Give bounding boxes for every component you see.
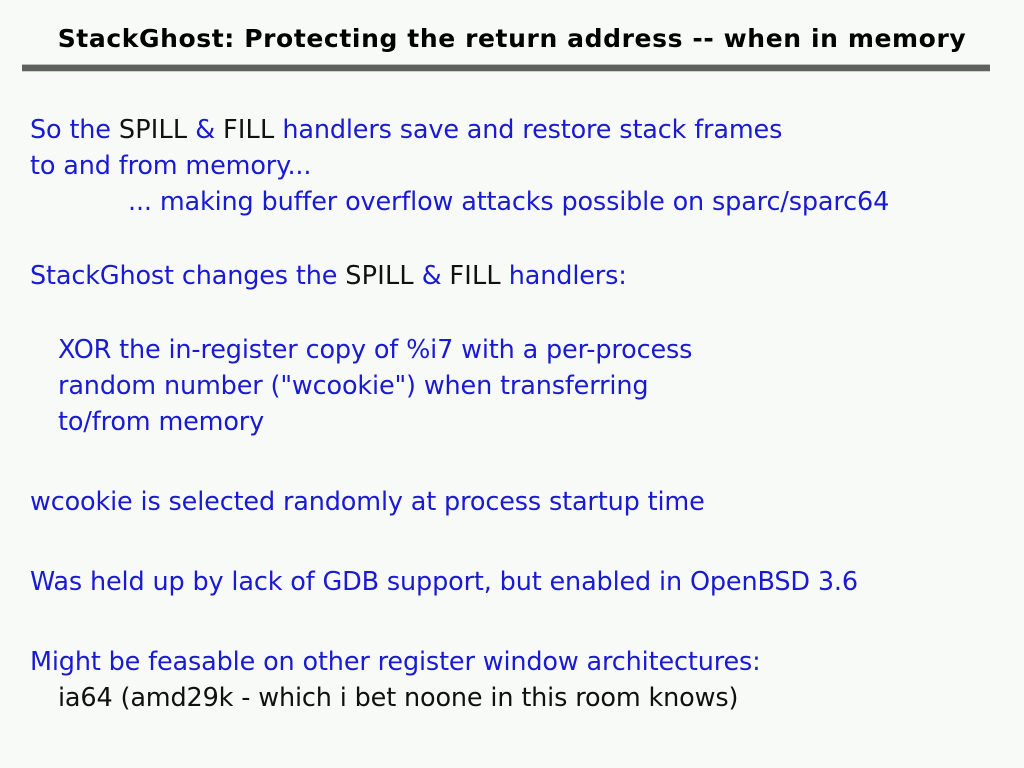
spacer-4	[0, 520, 1024, 564]
page-title: StackGhost: Protecting the return addres…	[58, 26, 967, 52]
body-line-1: So the SPILL & FILL handlers save and re…	[0, 112, 1024, 148]
keyword-spill-2: SPILL	[345, 261, 414, 291]
body-line-5: XOR the in-register copy of %i7 with a p…	[0, 332, 1024, 368]
spacer-2	[0, 294, 1024, 332]
title-block: StackGhost: Protecting the return addres…	[0, 26, 1024, 52]
body-line-1-mid: &	[187, 115, 223, 145]
body-line-9: Was held up by lack of GDB support, but …	[0, 564, 1024, 600]
slide-canvas: StackGhost: Protecting the return addres…	[0, 0, 1024, 768]
body-line-10: Might be feasable on other register wind…	[0, 644, 1024, 680]
body-line-1-pre: So the	[30, 115, 119, 145]
body-line-3: ... making buffer overflow attacks possi…	[0, 184, 1024, 220]
body-line-4-mid: &	[414, 261, 450, 291]
body-line-8: wcookie is selected randomly at process …	[0, 484, 1024, 520]
body-line-4-pre: StackGhost changes the	[30, 261, 345, 291]
spacer-3	[0, 440, 1024, 484]
body-line-4: StackGhost changes the SPILL & FILL hand…	[0, 258, 1024, 294]
keyword-fill-2: FILL	[449, 261, 500, 291]
title-divider	[22, 64, 990, 72]
spacer-1	[0, 220, 1024, 258]
body-line-11: ia64 (amd29k - which i bet noone in this…	[0, 680, 1024, 716]
keyword-spill: SPILL	[119, 115, 188, 145]
body-line-1-post: handlers save and restore stack frames	[274, 115, 782, 145]
body-line-2: to and from memory...	[0, 148, 1024, 184]
spacer-5	[0, 600, 1024, 644]
body-line-6: random number ("wcookie") when transferr…	[0, 368, 1024, 404]
keyword-fill: FILL	[223, 115, 274, 145]
slide-body: So the SPILL & FILL handlers save and re…	[0, 112, 1024, 716]
body-line-4-post: handlers:	[501, 261, 627, 291]
body-line-7: to/from memory	[0, 404, 1024, 440]
